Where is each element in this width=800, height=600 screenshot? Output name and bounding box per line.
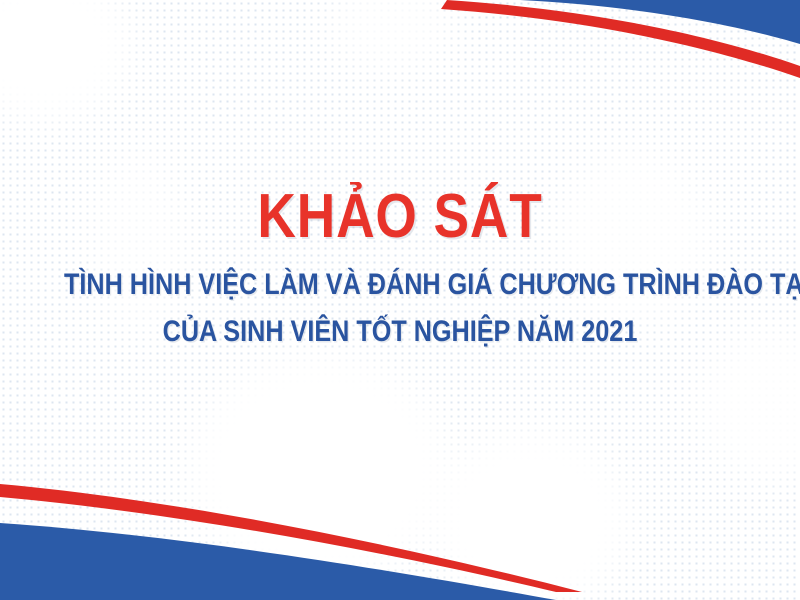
map-negative-space <box>190 355 450 585</box>
map-negative-space <box>430 430 630 600</box>
headline-block: KHẢO SÁT TÌNH HÌNH VIỆC LÀM VÀ ĐÁNH GIÁ … <box>0 186 800 347</box>
subtitle-line-1: TÌNH HÌNH VIỆC LÀM VÀ ĐÁNH GIÁ CHƯƠNG TR… <box>64 270 736 300</box>
page-title: KHẢO SÁT <box>56 186 744 248</box>
subtitle-line-2: CỦA SINH VIÊN TỐT NGHIỆP NĂM 2021 <box>64 317 736 347</box>
survey-poster: KHẢO SÁT TÌNH HÌNH VIỆC LÀM VÀ ĐÁNH GIÁ … <box>0 0 800 600</box>
